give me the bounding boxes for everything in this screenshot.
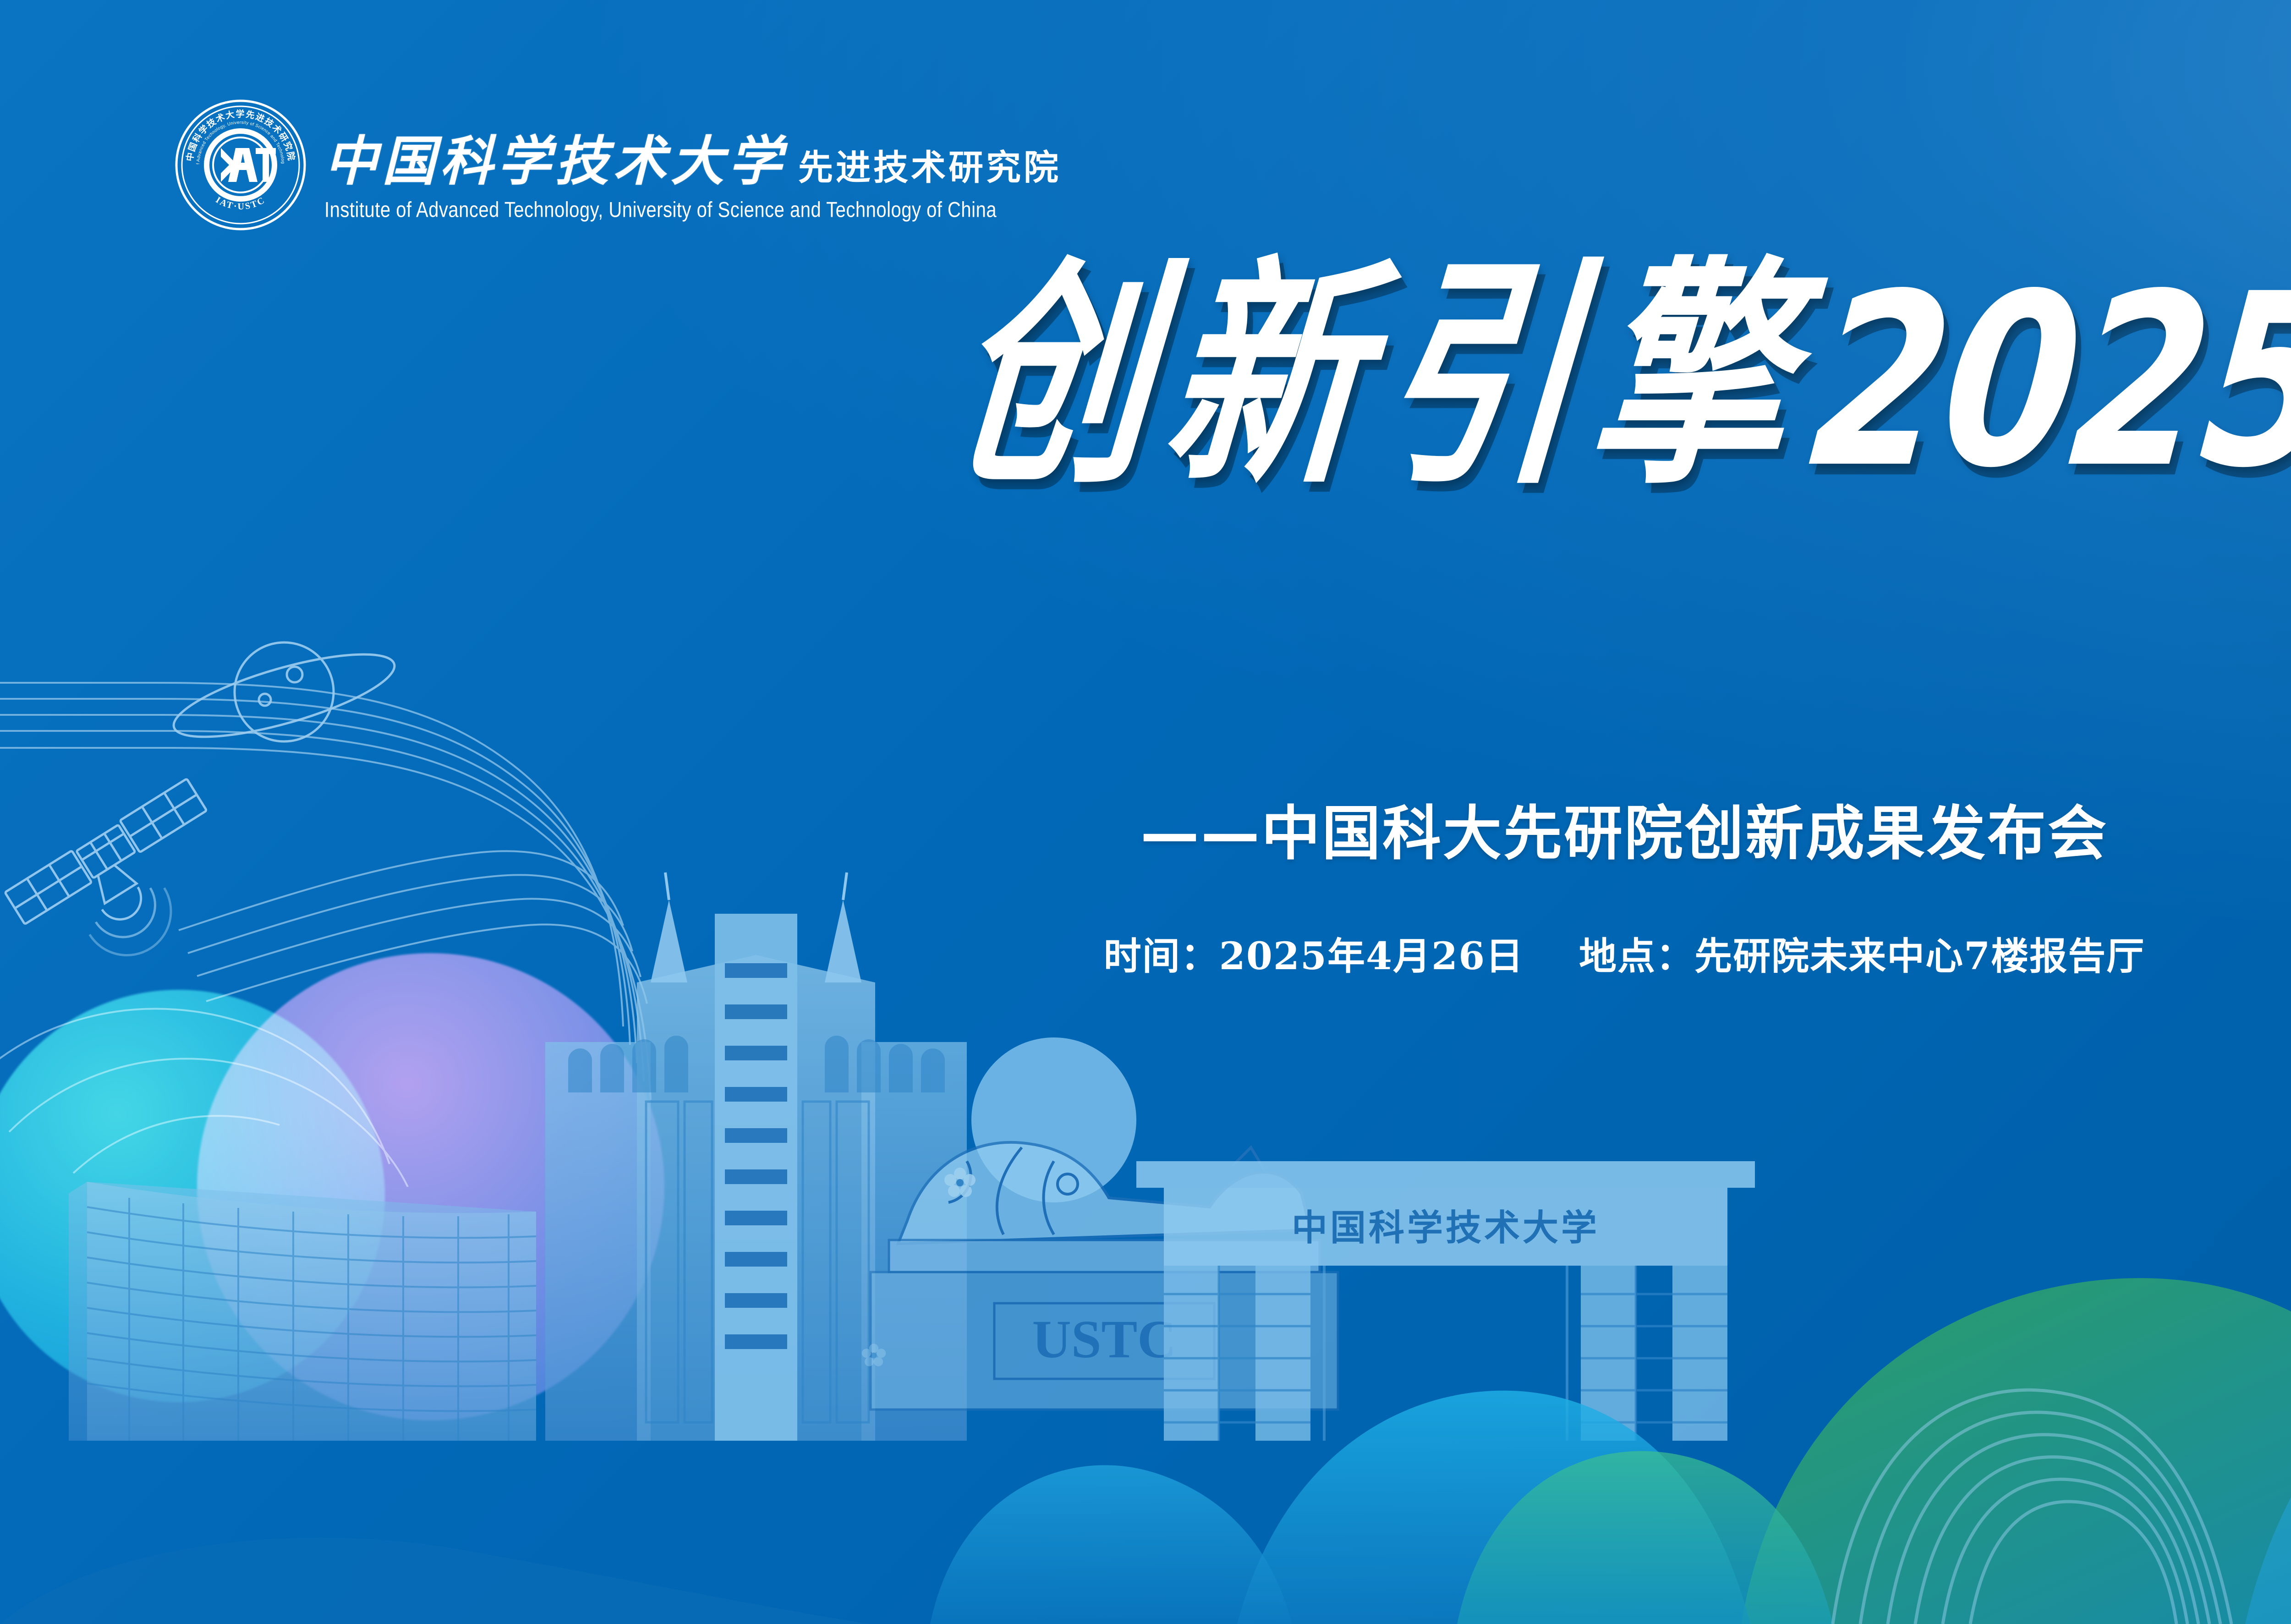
university-name-cn: 中国科学技术大学 (324, 118, 786, 195)
bottom-wave-decoration (0, 1005, 2291, 1624)
organization-header: 中国科学技术大学先进技术研究院 Institute of Advanced Te… (174, 99, 1061, 231)
event-time-value: 2025年4月26日 (1219, 934, 1524, 978)
event-meta: 时间：2025年4月26日地点：先研院未来中心7楼报告厅 (0, 926, 2291, 980)
event-subtitle: ——中国科大先研院创新成果发布会 (0, 786, 2291, 871)
event-place-label: 地点： (1579, 934, 1694, 978)
event-time-label: 时间： (1104, 934, 1219, 978)
institute-name-cn: 先进技术研究院 (798, 139, 1061, 190)
calligraphy-title: 创新引擎 (945, 261, 1815, 492)
title-year: 2025 (1804, 272, 2291, 491)
iat-ustc-logo-emblem: 中国科学技术大学先进技术研究院 Institute of Advanced Te… (174, 99, 307, 231)
organization-name-cn: 中国科学技术大学 先进技术研究院 (324, 118, 1061, 195)
organization-name-en: Institute of Advanced Technology, Univer… (324, 198, 1061, 222)
conference-banner: USTC 中国科学技术大学 (0, 0, 2291, 1624)
main-title: 创新引擎 2025 (0, 302, 2291, 492)
event-place-value: 先研院未来中心7楼报告厅 (1694, 934, 2145, 978)
